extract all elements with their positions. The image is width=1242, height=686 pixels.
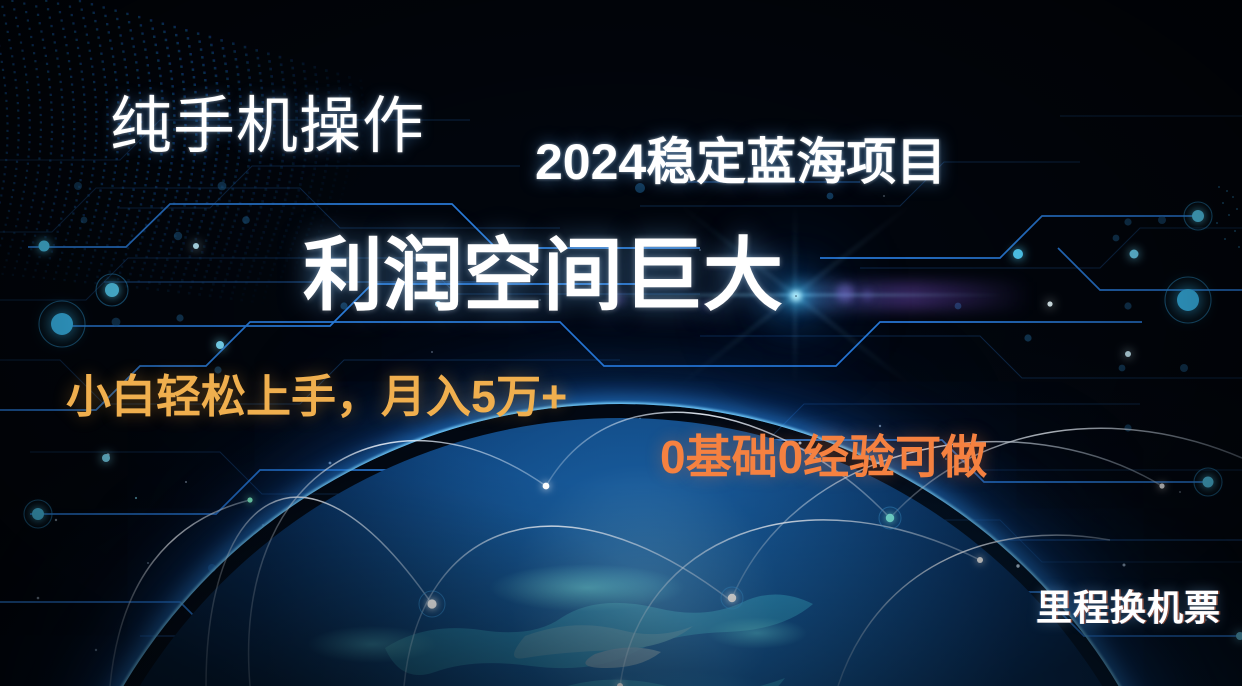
lens-flare-core xyxy=(795,295,797,297)
headline-profit: 利润空间巨大 xyxy=(303,236,783,316)
headline-pure-mobile: 纯手机操作 xyxy=(110,96,425,158)
lens-flare-ghost-2 xyxy=(862,290,872,300)
promo-poster: 纯手机操作 2024稳定蓝海项目 利润空间巨大 小白轻松上手，月入5万+ 0基础… xyxy=(0,0,1242,686)
subline-zero-base: 0基础0经验可做 xyxy=(660,434,987,480)
footer-tag-miles: 里程换机票 xyxy=(1036,590,1221,626)
headline-year-project: 2024稳定蓝海项目 xyxy=(535,137,946,187)
lens-flare-ghost-1 xyxy=(836,284,854,302)
subline-easy-income: 小白轻松上手，月入5万+ xyxy=(66,374,567,419)
lens-flare-streak xyxy=(800,282,1030,310)
